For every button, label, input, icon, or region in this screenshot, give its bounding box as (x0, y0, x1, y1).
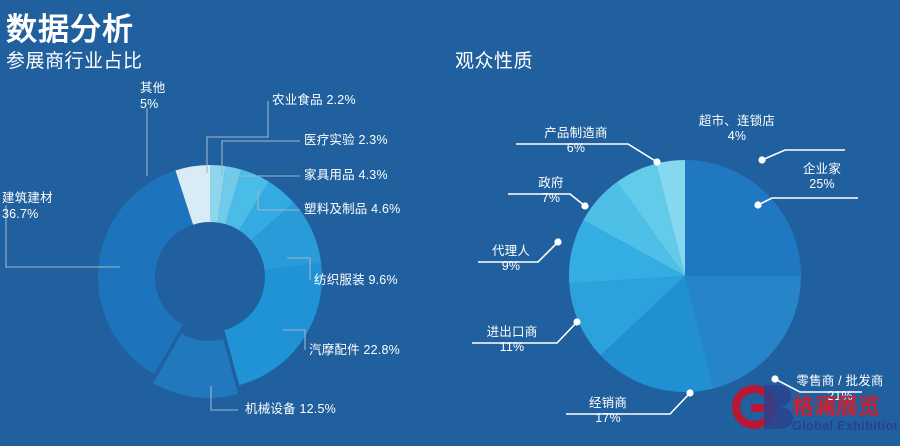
callout-label-furniture: 家具用品 4.3% (304, 168, 388, 183)
callout-label-entrepreneur: 企业家 25% (790, 162, 854, 192)
callout-label-supermarket: 超市、连锁店 4% (682, 114, 792, 144)
connector-dot-manufacturer (653, 158, 660, 165)
connector-dot-supermarket (758, 156, 765, 163)
callout-label-manufacturer: 产品制造商 6% (528, 126, 624, 156)
callout-label-importer: 进出口商 11% (474, 325, 550, 355)
callout-label-plastic: 塑料及制品 4.6% (304, 202, 400, 217)
right-chart-subtitle: 观众性质 (455, 46, 533, 73)
connector-dot-retailer (771, 375, 778, 382)
callout-label-machinery: 机械设备 12.5% (245, 402, 336, 417)
callout-label-dealer: 经销商 17% (572, 396, 644, 426)
callout-label-other: 其他 5% (140, 80, 165, 112)
connector-dot-entrepreneur (754, 201, 761, 208)
callout-label-construction: 建筑建材 36.7% (2, 190, 53, 222)
connector-dot-importer (573, 318, 580, 325)
callout-label-government: 政府 7% (520, 176, 582, 206)
callout-label-retailer: 零售商 / 批发商 21% (782, 374, 898, 404)
callout-label-agent: 代理人 9% (481, 244, 541, 274)
visitor-profile-pie (569, 160, 801, 392)
callout-label-textile: 纺织服装 9.6% (314, 273, 398, 288)
left-chart-subtitle: 参展商行业占比 (6, 46, 143, 73)
connector-dot-dealer (686, 389, 693, 396)
callout-label-medical: 医疗实验 2.3% (304, 133, 388, 148)
connector-dot-government (581, 202, 588, 209)
callout-label-agriculture: 农业食品 2.2% (272, 93, 356, 108)
connector-dot-agent (554, 238, 561, 245)
callout-label-autoparts: 汽摩配件 22.8% (309, 343, 400, 358)
page-title: 数据分析 (6, 4, 134, 49)
